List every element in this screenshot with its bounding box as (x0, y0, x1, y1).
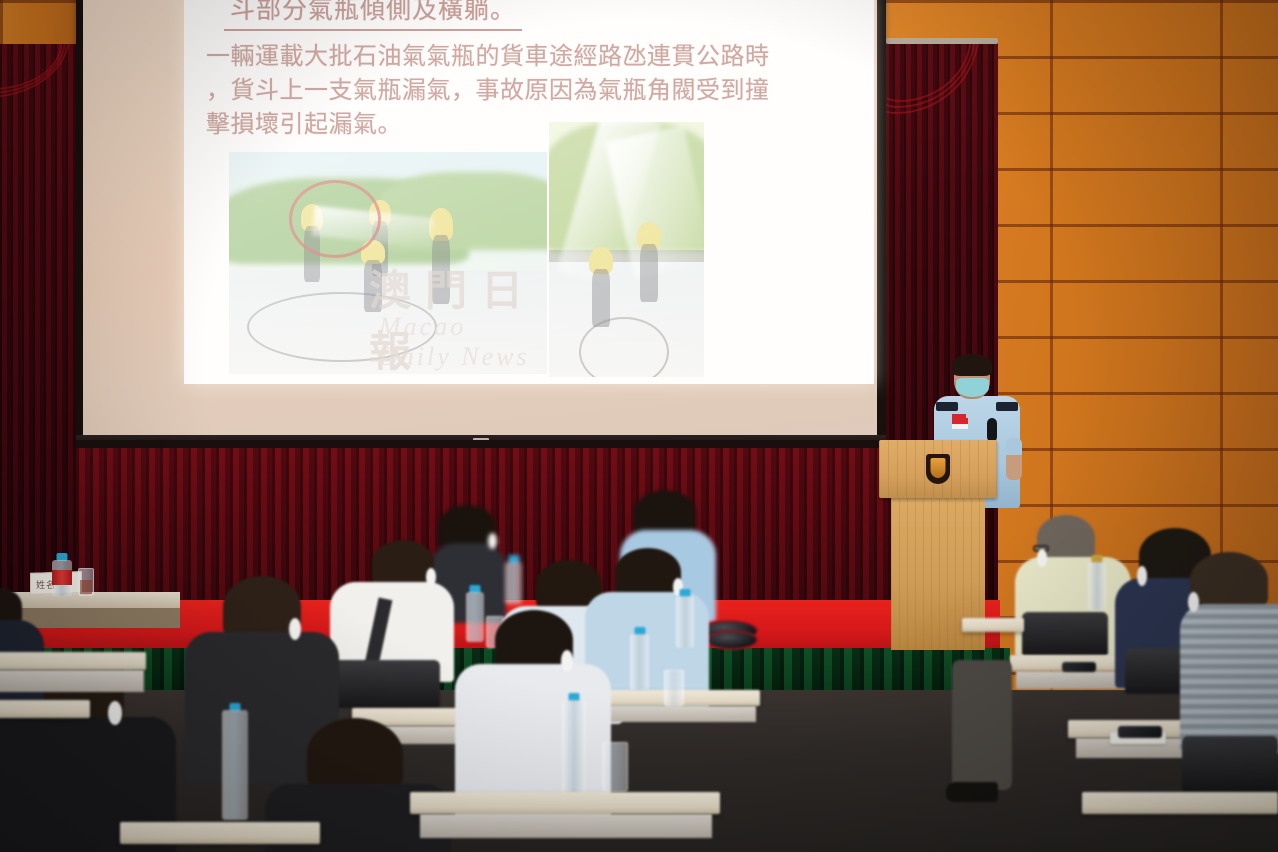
podium-top-ledge (879, 440, 997, 498)
slide-body-line-3: 擊損壞引起漏氣。 (206, 107, 852, 141)
desk-phone-right-1[interactable] (1062, 662, 1096, 672)
speaker-arm (1006, 438, 1022, 480)
desk-bottle-b2 (676, 596, 694, 648)
audience-shoe-right (946, 782, 998, 802)
speaker-epaulet-left (936, 402, 958, 411)
screen-frame-left (76, 0, 83, 448)
projection-screen: 斗部分氣瓶傾側及橫躺。 一輛運載大批石油氣氣瓶的貨車途經路氹連貫公路時 ，貨斗上… (76, 0, 886, 448)
stool-2[interactable] (706, 630, 758, 650)
curtain-valance-right (882, 40, 998, 190)
desk-row-d-apron (420, 814, 712, 838)
desk-row-d-left (120, 822, 320, 844)
chair-r3[interactable] (1182, 736, 1278, 792)
audience-person-r3 (1180, 552, 1278, 742)
speaker-hair (952, 354, 992, 376)
hair (0, 588, 22, 624)
desk-far-left-apron (0, 670, 144, 692)
screen-frame-right (877, 0, 886, 448)
desk-bottle-d2 (562, 700, 586, 800)
desk-bottle-d1 (222, 710, 248, 820)
hair (307, 718, 403, 790)
desk-row-d (410, 792, 720, 814)
hair (1190, 552, 1268, 608)
desk-glass-d (602, 742, 628, 792)
speaker-epaulet-right (996, 402, 1018, 411)
mask-strap (289, 618, 301, 640)
slide-body-line-2: ，貨斗上一支氣瓶漏氣，事故原因為氣瓶角閥受到撞 (206, 73, 852, 107)
desk-far-left-2 (0, 700, 90, 718)
audience-person-b1 (330, 540, 450, 680)
hair (615, 548, 681, 596)
mask-strap (1188, 592, 1199, 612)
head-table-tea-glass (78, 568, 94, 596)
podium-shield-crest-icon (926, 454, 950, 484)
mask-strap (108, 701, 122, 725)
slide-body: 一輛運載大批石油氣氣瓶的貨車途經路氹連貫公路時 ，貨斗上一支氣瓶漏氣，事故原因為… (202, 39, 856, 141)
chair-c1[interactable] (330, 660, 440, 708)
speaker-name-badge (952, 418, 968, 429)
projected-slide: 斗部分氣瓶傾側及橫躺。 一輛運載大批石油氣氣瓶的貨車途經路氹連貫公路時 ，貨斗上… (184, 0, 874, 384)
speaker-face-mask (956, 378, 989, 397)
mask-strap (488, 533, 497, 549)
desk-bottle-b1 (630, 634, 649, 690)
wood-panel-wall-topleft (0, 0, 80, 48)
head-table-water-bottle (52, 560, 72, 596)
mask-strap (1137, 566, 1147, 586)
desk-right-2-apron (1016, 671, 1128, 689)
desk-far-left (0, 652, 146, 670)
hair (372, 540, 434, 586)
desk-right-4 (1082, 792, 1278, 814)
photo-watermark-en: Macao Daily News (379, 312, 547, 372)
audience-legs-right (952, 660, 1012, 790)
desk-phone-right-2[interactable] (1118, 726, 1162, 738)
desk-right-1 (962, 618, 1024, 632)
curtain-valance-left (0, 44, 80, 144)
slide-photo-firefighters-left: 澳門日報 Macao Daily News (229, 152, 547, 374)
mask-strap (561, 650, 573, 672)
desk-bottle-r1 (1088, 562, 1106, 610)
microphone (987, 418, 997, 442)
body (1180, 604, 1278, 754)
mask-strap (426, 568, 436, 586)
slide-body-line-1: 一輛運載大批石油氣氣瓶的貨車途經路氹連貫公路時 (206, 39, 852, 73)
curtain-rod-right (886, 38, 998, 44)
mask-strap (1037, 549, 1047, 567)
presentation-hall-photo: 斗部分氣瓶傾側及橫躺。 一輛運載大批石油氣氣瓶的貨車途經路氹連貫公路時 ，貨斗上… (0, 0, 1278, 852)
slide-title: 斗部分氣瓶傾側及橫躺。 (224, 0, 522, 31)
slide-photo-firefighters-right (549, 122, 704, 377)
desk-glass-b (664, 670, 684, 706)
chair-r1[interactable] (1022, 612, 1108, 656)
photo-annotation-red-circle (289, 180, 381, 258)
